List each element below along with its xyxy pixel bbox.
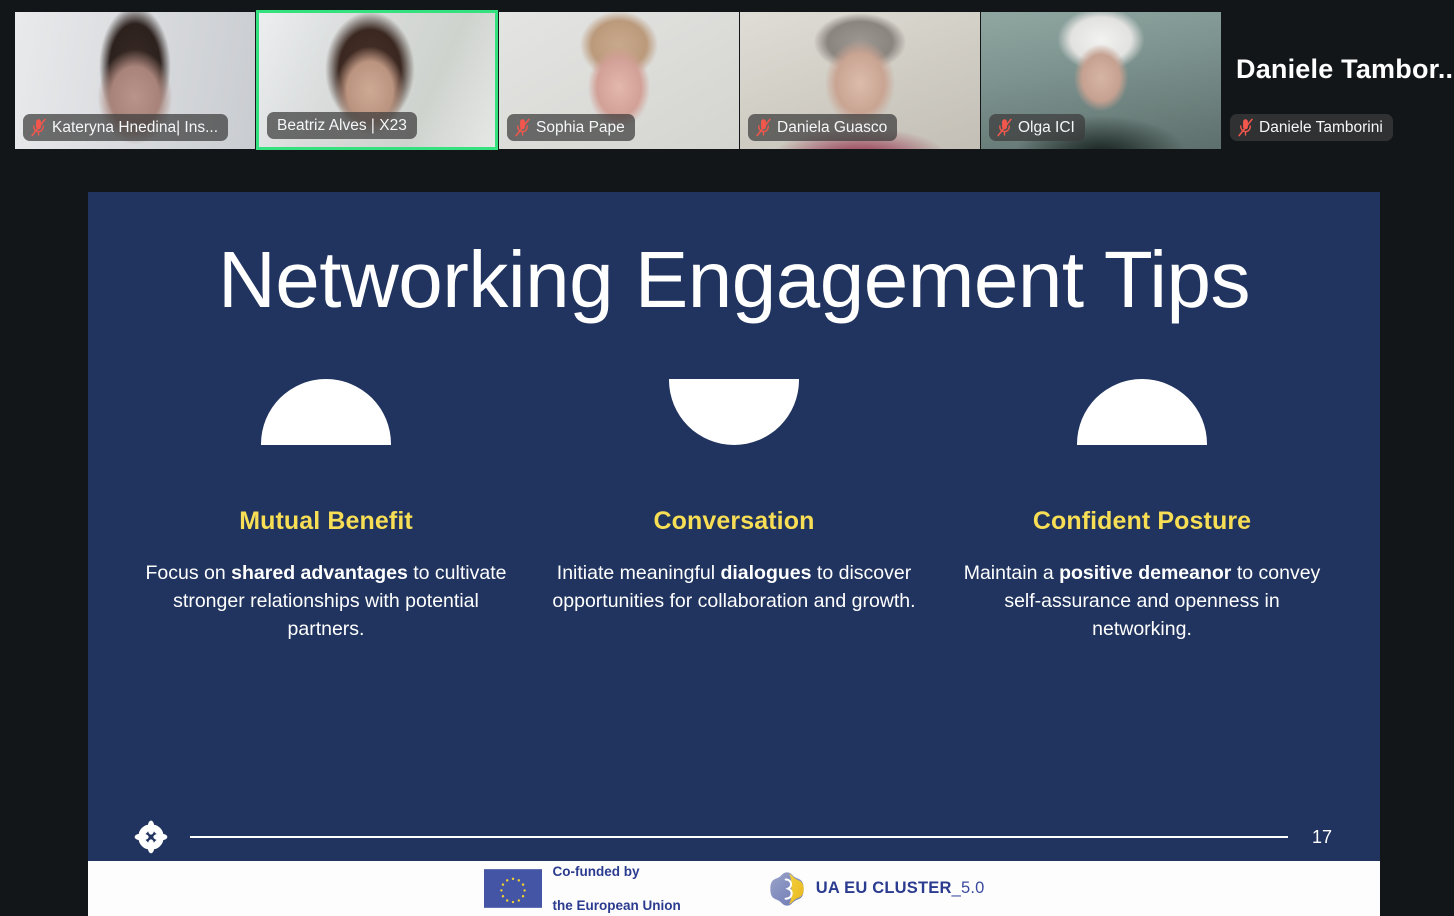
body-prefix: Maintain a — [964, 562, 1059, 584]
participant-name: Beatriz Alves | X23 — [277, 117, 407, 135]
participant-name-chip: Daniela Guasco — [748, 114, 897, 141]
body-prefix: Initiate meaningful — [557, 562, 721, 584]
participant-video-strip: Kateryna Hnedina| Ins... Beatriz Alves |… — [0, 0, 1454, 160]
body-emphasis: positive demeanor — [1059, 562, 1231, 584]
slide-column-conversation: Conversation Initiate meaningful dialogu… — [530, 379, 938, 643]
column-heading: Confident Posture — [1033, 507, 1251, 536]
mic-muted-icon — [756, 118, 771, 137]
participant-tile-daniele-tamborini[interactable]: Daniele Tambor... Daniele Tamborini — [1222, 12, 1454, 149]
participant-name: Kateryna Hnedina| Ins... — [52, 119, 218, 137]
column-body: Maintain a positive demeanor to convey s… — [954, 560, 1330, 643]
body-prefix: Focus on — [146, 562, 232, 584]
slide-title: Networking Engagement Tips — [88, 240, 1380, 319]
bowl-semicircle-icon — [669, 379, 799, 445]
participant-name: Olga ICI — [1018, 119, 1075, 137]
participant-name-chip: Sophia Pape — [507, 114, 635, 141]
body-emphasis: dialogues — [720, 562, 811, 584]
participant-name: Daniela Guasco — [777, 119, 887, 137]
participant-tile-daniela-guasco[interactable]: Daniela Guasco — [740, 12, 980, 149]
participant-name: Sophia Pape — [536, 119, 625, 137]
cluster-version: _5.0 — [952, 879, 985, 897]
mic-muted-icon — [997, 118, 1012, 137]
body-emphasis: shared advantages — [231, 562, 408, 584]
screen: Kateryna Hnedina| Ins... Beatriz Alves |… — [0, 0, 1454, 916]
dome-semicircle-icon — [261, 379, 391, 445]
column-heading: Conversation — [654, 507, 815, 536]
cluster-wordmark: UA EU CLUSTER_5.0 — [816, 879, 985, 898]
participant-name-chip: Kateryna Hnedina| Ins... — [23, 114, 228, 141]
slide-column-mutual-benefit: Mutual Benefit Focus on shared advantage… — [122, 379, 530, 643]
mic-muted-icon — [1238, 118, 1253, 137]
participant-name-chip: Beatriz Alves | X23 — [267, 112, 417, 139]
participant-placeholder-name: Daniele Tambor... — [1236, 54, 1454, 85]
cluster-name: UA EU CLUSTER — [816, 879, 952, 897]
participant-name-chip: Olga ICI — [989, 114, 1085, 141]
ua-eu-cluster-logo: UA EU CLUSTER_5.0 — [769, 871, 985, 907]
participant-name: Daniele Tamborini — [1259, 119, 1383, 137]
cluster-mark-icon — [769, 871, 805, 907]
eu-cofunding-logo: Co-funded by the European Union — [484, 845, 681, 916]
eu-cofunding-line2: the European Union — [553, 897, 681, 914]
slide-logo-bar: Co-funded by the European Union — [88, 861, 1380, 916]
column-body: Focus on shared advantages to cultivate … — [138, 560, 514, 643]
participant-name-chip: Daniele Tamborini — [1230, 114, 1393, 141]
shared-presentation-slide[interactable]: Networking Engagement Tips Mutual Benefi… — [88, 192, 1380, 916]
mic-muted-icon — [515, 118, 530, 137]
column-body: Initiate meaningful dialogues to discove… — [546, 560, 922, 615]
participant-tile-beatriz-alves[interactable]: Beatriz Alves | X23 — [256, 10, 498, 150]
footer-divider-line — [190, 836, 1288, 838]
eu-flag-icon — [484, 869, 542, 908]
column-heading: Mutual Benefit — [239, 507, 413, 536]
flower-asterisk-icon — [134, 820, 168, 854]
slide-column-confident-posture: Confident Posture Maintain a positive de… — [938, 379, 1346, 643]
eu-cofunding-line1: Co-funded by — [553, 863, 681, 880]
mic-muted-icon — [31, 118, 46, 137]
slide-footer: 17 — [88, 813, 1380, 861]
slide-columns: Mutual Benefit Focus on shared advantage… — [88, 379, 1380, 643]
participant-tile-sophia-pape[interactable]: Sophia Pape — [499, 12, 739, 149]
participant-tile-olga-ici[interactable]: Olga ICI — [981, 12, 1221, 149]
eu-cofunding-text: Co-funded by the European Union — [553, 845, 681, 916]
dome-semicircle-icon — [1077, 379, 1207, 445]
participant-tile-kateryna-hnedina[interactable]: Kateryna Hnedina| Ins... — [15, 12, 255, 149]
slide-page-number: 17 — [1310, 827, 1332, 848]
